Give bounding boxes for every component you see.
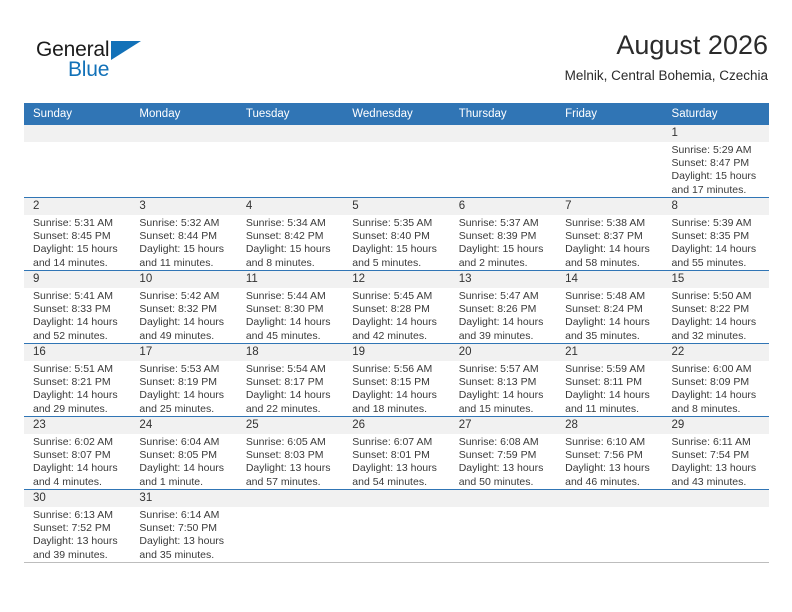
sunset-text: Sunset: 8:19 PM [139,376,230,389]
calendar-cell[interactable]: 23Sunrise: 6:02 AMSunset: 8:07 PMDayligh… [24,417,130,490]
day-number: 19 [343,344,449,361]
location-subtitle: Melnik, Central Bohemia, Czechia [565,66,768,86]
calendar-cell[interactable] [663,490,769,563]
sunset-text: Sunset: 8:42 PM [246,230,337,243]
calendar-cell[interactable]: 25Sunrise: 6:05 AMSunset: 8:03 PMDayligh… [237,417,343,490]
title-block: August 2026 Melnik, Central Bohemia, Cze… [565,28,768,86]
daylight-text-line2: and 18 minutes. [352,403,443,416]
day-details: Sunrise: 6:14 AMSunset: 7:50 PMDaylight:… [130,507,236,562]
daylight-text-line1: Daylight: 14 hours [33,389,124,402]
daylight-text-line2: and 49 minutes. [139,330,230,343]
sunrise-text: Sunrise: 5:31 AM [33,217,124,230]
sunset-text: Sunset: 8:03 PM [246,449,337,462]
day-details: Sunrise: 5:34 AMSunset: 8:42 PMDaylight:… [237,215,343,270]
day-number [556,125,662,142]
day-details: Sunrise: 5:51 AMSunset: 8:21 PMDaylight:… [24,361,130,416]
weekday-header-saturday: Saturday [663,103,769,125]
day-number: 28 [556,417,662,434]
sunrise-text: Sunrise: 6:02 AM [33,436,124,449]
day-number: 23 [24,417,130,434]
sunset-text: Sunset: 7:54 PM [672,449,763,462]
day-number: 1 [663,125,769,142]
daylight-text-line1: Daylight: 14 hours [139,389,230,402]
calendar-cell[interactable] [343,490,449,563]
sunrise-text: Sunrise: 6:13 AM [33,509,124,522]
calendar-cell[interactable]: 8Sunrise: 5:39 AMSunset: 8:35 PMDaylight… [663,198,769,271]
sunrise-text: Sunrise: 5:53 AM [139,363,230,376]
day-details: Sunrise: 5:37 AMSunset: 8:39 PMDaylight:… [450,215,556,270]
daylight-text-line2: and 29 minutes. [33,403,124,416]
daylight-text-line2: and 39 minutes. [459,330,550,343]
sunrise-sunset-calendar-table: Sunday Monday Tuesday Wednesday Thursday… [24,103,769,563]
daylight-text-line1: Daylight: 15 hours [459,243,550,256]
sunset-text: Sunset: 8:32 PM [139,303,230,316]
day-details [237,142,343,144]
general-blue-logo[interactable]: General Blue [36,38,176,94]
weekday-header-sunday: Sunday [24,103,130,125]
sunrise-text: Sunrise: 5:48 AM [565,290,656,303]
sunset-text: Sunset: 8:47 PM [672,157,763,170]
day-details: Sunrise: 5:59 AMSunset: 8:11 PMDaylight:… [556,361,662,416]
weekday-header-friday: Friday [556,103,662,125]
sunrise-text: Sunrise: 5:50 AM [672,290,763,303]
sunrise-text: Sunrise: 6:14 AM [139,509,230,522]
day-number [450,125,556,142]
sunset-text: Sunset: 8:13 PM [459,376,550,389]
daylight-text-line2: and 39 minutes. [33,549,124,562]
calendar-cell[interactable]: 12Sunrise: 5:45 AMSunset: 8:28 PMDayligh… [343,271,449,344]
sunset-text: Sunset: 8:01 PM [352,449,443,462]
sunrise-text: Sunrise: 5:45 AM [352,290,443,303]
calendar-cell[interactable]: 3Sunrise: 5:32 AMSunset: 8:44 PMDaylight… [130,198,236,271]
daylight-text-line1: Daylight: 14 hours [246,389,337,402]
daylight-text-line2: and 5 minutes. [352,257,443,270]
calendar-cell[interactable] [343,125,449,198]
day-number: 21 [556,344,662,361]
daylight-text-line2: and 57 minutes. [246,476,337,489]
day-details: Sunrise: 6:08 AMSunset: 7:59 PMDaylight:… [450,434,556,489]
day-number [663,490,769,507]
day-details: Sunrise: 5:45 AMSunset: 8:28 PMDaylight:… [343,288,449,343]
calendar-cell[interactable] [556,125,662,198]
sunrise-text: Sunrise: 6:00 AM [672,363,763,376]
day-number: 16 [24,344,130,361]
day-details: Sunrise: 5:50 AMSunset: 8:22 PMDaylight:… [663,288,769,343]
daylight-text-line2: and 11 minutes. [139,257,230,270]
sunrise-text: Sunrise: 5:35 AM [352,217,443,230]
day-details: Sunrise: 6:00 AMSunset: 8:09 PMDaylight:… [663,361,769,416]
sunset-text: Sunset: 7:50 PM [139,522,230,535]
day-details: Sunrise: 5:44 AMSunset: 8:30 PMDaylight:… [237,288,343,343]
logo-text-blue: Blue [68,58,109,82]
sunset-text: Sunset: 8:28 PM [352,303,443,316]
sunrise-text: Sunrise: 6:07 AM [352,436,443,449]
day-number: 14 [556,271,662,288]
daylight-text-line2: and 52 minutes. [33,330,124,343]
day-number: 6 [450,198,556,215]
daylight-text-line2: and 54 minutes. [352,476,443,489]
day-number: 10 [130,271,236,288]
sunset-text: Sunset: 8:37 PM [565,230,656,243]
sunrise-text: Sunrise: 6:11 AM [672,436,763,449]
sunset-text: Sunset: 8:11 PM [565,376,656,389]
calendar-cell[interactable]: 10Sunrise: 5:42 AMSunset: 8:32 PMDayligh… [130,271,236,344]
weekday-header-wednesday: Wednesday [343,103,449,125]
calendar-page: General Blue August 2026 Melnik, Central… [0,0,792,612]
sunrise-text: Sunrise: 5:38 AM [565,217,656,230]
daylight-text-line2: and 15 minutes. [459,403,550,416]
sunrise-text: Sunrise: 6:08 AM [459,436,550,449]
calendar-cell[interactable] [130,125,236,198]
daylight-text-line2: and 32 minutes. [672,330,763,343]
day-details [24,142,130,144]
sunrise-text: Sunrise: 5:56 AM [352,363,443,376]
calendar-cell[interactable]: 20Sunrise: 5:57 AMSunset: 8:13 PMDayligh… [450,344,556,417]
sunset-text: Sunset: 8:33 PM [33,303,124,316]
sunset-text: Sunset: 8:40 PM [352,230,443,243]
day-details: Sunrise: 5:57 AMSunset: 8:13 PMDaylight:… [450,361,556,416]
calendar-cell[interactable]: 27Sunrise: 6:08 AMSunset: 7:59 PMDayligh… [450,417,556,490]
day-number: 13 [450,271,556,288]
day-number [343,490,449,507]
calendar-cell[interactable] [237,125,343,198]
daylight-text-line2: and 4 minutes. [33,476,124,489]
calendar-cell[interactable] [24,125,130,198]
calendar-cell[interactable]: 4Sunrise: 5:34 AMSunset: 8:42 PMDaylight… [237,198,343,271]
day-number: 30 [24,490,130,507]
day-number: 18 [237,344,343,361]
daylight-text-line2: and 8 minutes. [672,403,763,416]
weekday-header-row: Sunday Monday Tuesday Wednesday Thursday… [24,103,769,125]
sunset-text: Sunset: 7:59 PM [459,449,550,462]
sunset-text: Sunset: 8:30 PM [246,303,337,316]
daylight-text-line2: and 11 minutes. [565,403,656,416]
day-details: Sunrise: 5:35 AMSunset: 8:40 PMDaylight:… [343,215,449,270]
daylight-text-line1: Daylight: 15 hours [672,170,763,183]
day-details: Sunrise: 5:29 AMSunset: 8:47 PMDaylight:… [663,142,769,197]
day-number: 12 [343,271,449,288]
daylight-text-line2: and 2 minutes. [459,257,550,270]
sunrise-text: Sunrise: 5:57 AM [459,363,550,376]
calendar-cell[interactable]: 28Sunrise: 6:10 AMSunset: 7:56 PMDayligh… [556,417,662,490]
day-number: 27 [450,417,556,434]
daylight-text-line2: and 25 minutes. [139,403,230,416]
calendar-cell[interactable]: 18Sunrise: 5:54 AMSunset: 8:17 PMDayligh… [237,344,343,417]
sunset-text: Sunset: 7:52 PM [33,522,124,535]
day-details: Sunrise: 6:13 AMSunset: 7:52 PMDaylight:… [24,507,130,562]
calendar-cell[interactable] [237,490,343,563]
daylight-text-line1: Daylight: 13 hours [246,462,337,475]
sunrise-text: Sunrise: 5:29 AM [672,144,763,157]
daylight-text-line1: Daylight: 14 hours [672,243,763,256]
calendar-cell[interactable]: 31Sunrise: 6:14 AMSunset: 7:50 PMDayligh… [130,490,236,563]
day-details: Sunrise: 6:04 AMSunset: 8:05 PMDaylight:… [130,434,236,489]
daylight-text-line1: Daylight: 15 hours [139,243,230,256]
calendar-cell[interactable]: 7Sunrise: 5:38 AMSunset: 8:37 PMDaylight… [556,198,662,271]
calendar-week-row: 23Sunrise: 6:02 AMSunset: 8:07 PMDayligh… [24,417,769,490]
sunset-text: Sunset: 8:15 PM [352,376,443,389]
day-details: Sunrise: 6:02 AMSunset: 8:07 PMDaylight:… [24,434,130,489]
sunset-text: Sunset: 8:05 PM [139,449,230,462]
daylight-text-line2: and 50 minutes. [459,476,550,489]
day-number [130,125,236,142]
daylight-text-line1: Daylight: 14 hours [246,316,337,329]
page-header: General Blue August 2026 Melnik, Central… [24,28,768,100]
day-details [556,142,662,144]
calendar-cell[interactable]: 5Sunrise: 5:35 AMSunset: 8:40 PMDaylight… [343,198,449,271]
sunset-text: Sunset: 8:07 PM [33,449,124,462]
day-details: Sunrise: 5:38 AMSunset: 8:37 PMDaylight:… [556,215,662,270]
calendar-cell[interactable]: 14Sunrise: 5:48 AMSunset: 8:24 PMDayligh… [556,271,662,344]
day-number: 29 [663,417,769,434]
day-number: 2 [24,198,130,215]
sunset-text: Sunset: 8:21 PM [33,376,124,389]
calendar-cell[interactable]: 2Sunrise: 5:31 AMSunset: 8:45 PMDaylight… [24,198,130,271]
daylight-text-line2: and 14 minutes. [33,257,124,270]
calendar-cell[interactable]: 26Sunrise: 6:07 AMSunset: 8:01 PMDayligh… [343,417,449,490]
daylight-text-line1: Daylight: 13 hours [139,535,230,548]
sunrise-text: Sunrise: 5:44 AM [246,290,337,303]
calendar-cell[interactable]: 17Sunrise: 5:53 AMSunset: 8:19 PMDayligh… [130,344,236,417]
day-number [450,490,556,507]
daylight-text-line2: and 17 minutes. [672,184,763,197]
daylight-text-line2: and 46 minutes. [565,476,656,489]
day-details [343,142,449,144]
day-details [343,507,449,509]
day-details: Sunrise: 5:42 AMSunset: 8:32 PMDaylight:… [130,288,236,343]
daylight-text-line1: Daylight: 13 hours [33,535,124,548]
daylight-text-line1: Daylight: 13 hours [565,462,656,475]
weekday-header-thursday: Thursday [450,103,556,125]
day-number [24,125,130,142]
calendar-cell[interactable]: 22Sunrise: 6:00 AMSunset: 8:09 PMDayligh… [663,344,769,417]
calendar-cell[interactable] [556,490,662,563]
calendar-cell[interactable]: 13Sunrise: 5:47 AMSunset: 8:26 PMDayligh… [450,271,556,344]
daylight-text-line1: Daylight: 14 hours [672,316,763,329]
day-number [556,490,662,507]
sunrise-text: Sunrise: 6:10 AM [565,436,656,449]
day-details [663,507,769,509]
day-number: 17 [130,344,236,361]
daylight-text-line1: Daylight: 14 hours [33,462,124,475]
calendar-cell[interactable]: 11Sunrise: 5:44 AMSunset: 8:30 PMDayligh… [237,271,343,344]
day-details: Sunrise: 5:56 AMSunset: 8:15 PMDaylight:… [343,361,449,416]
weekday-header-monday: Monday [130,103,236,125]
sunset-text: Sunset: 8:44 PM [139,230,230,243]
day-details: Sunrise: 6:11 AMSunset: 7:54 PMDaylight:… [663,434,769,489]
calendar-cell[interactable]: 15Sunrise: 5:50 AMSunset: 8:22 PMDayligh… [663,271,769,344]
day-number [343,125,449,142]
daylight-text-line1: Daylight: 14 hours [352,316,443,329]
calendar-cell[interactable] [450,490,556,563]
sunset-text: Sunset: 8:22 PM [672,303,763,316]
blue-triangle-icon [111,41,141,60]
sunrise-text: Sunrise: 5:54 AM [246,363,337,376]
daylight-text-line2: and 55 minutes. [672,257,763,270]
day-number: 9 [24,271,130,288]
daylight-text-line1: Daylight: 15 hours [352,243,443,256]
daylight-text-line1: Daylight: 14 hours [459,389,550,402]
calendar-cell[interactable]: 1Sunrise: 5:29 AMSunset: 8:47 PMDaylight… [663,125,769,198]
day-number: 3 [130,198,236,215]
sunrise-text: Sunrise: 6:04 AM [139,436,230,449]
daylight-text-line1: Daylight: 14 hours [33,316,124,329]
day-number: 20 [450,344,556,361]
day-details [237,507,343,509]
day-details: Sunrise: 5:53 AMSunset: 8:19 PMDaylight:… [130,361,236,416]
daylight-text-line1: Daylight: 14 hours [352,389,443,402]
sunset-text: Sunset: 8:24 PM [565,303,656,316]
day-number: 24 [130,417,236,434]
calendar-cell[interactable]: 21Sunrise: 5:59 AMSunset: 8:11 PMDayligh… [556,344,662,417]
day-details: Sunrise: 5:54 AMSunset: 8:17 PMDaylight:… [237,361,343,416]
daylight-text-line1: Daylight: 14 hours [565,389,656,402]
sunrise-text: Sunrise: 5:32 AM [139,217,230,230]
day-details: Sunrise: 6:10 AMSunset: 7:56 PMDaylight:… [556,434,662,489]
calendar-week-row: 30Sunrise: 6:13 AMSunset: 7:52 PMDayligh… [24,490,769,563]
daylight-text-line2: and 58 minutes. [565,257,656,270]
daylight-text-line1: Daylight: 13 hours [352,462,443,475]
day-details: Sunrise: 5:31 AMSunset: 8:45 PMDaylight:… [24,215,130,270]
day-details: Sunrise: 6:05 AMSunset: 8:03 PMDaylight:… [237,434,343,489]
day-number: 11 [237,271,343,288]
day-number: 8 [663,198,769,215]
daylight-text-line2: and 42 minutes. [352,330,443,343]
daylight-text-line2: and 22 minutes. [246,403,337,416]
daylight-text-line1: Daylight: 14 hours [672,389,763,402]
sunrise-text: Sunrise: 5:34 AM [246,217,337,230]
daylight-text-line2: and 1 minute. [139,476,230,489]
daylight-text-line2: and 43 minutes. [672,476,763,489]
day-details: Sunrise: 5:48 AMSunset: 8:24 PMDaylight:… [556,288,662,343]
day-details [556,507,662,509]
daylight-text-line1: Daylight: 15 hours [246,243,337,256]
daylight-text-line1: Daylight: 14 hours [565,316,656,329]
day-number: 31 [130,490,236,507]
sunset-text: Sunset: 8:17 PM [246,376,337,389]
calendar-week-row: 16Sunrise: 5:51 AMSunset: 8:21 PMDayligh… [24,344,769,417]
calendar-week-row: 9Sunrise: 5:41 AMSunset: 8:33 PMDaylight… [24,271,769,344]
calendar-cell[interactable]: 6Sunrise: 5:37 AMSunset: 8:39 PMDaylight… [450,198,556,271]
weekday-header-tuesday: Tuesday [237,103,343,125]
sunset-text: Sunset: 8:09 PM [672,376,763,389]
day-details: Sunrise: 5:47 AMSunset: 8:26 PMDaylight:… [450,288,556,343]
calendar-cell[interactable]: 9Sunrise: 5:41 AMSunset: 8:33 PMDaylight… [24,271,130,344]
daylight-text-line1: Daylight: 15 hours [33,243,124,256]
daylight-text-line2: and 35 minutes. [139,549,230,562]
sunset-text: Sunset: 8:45 PM [33,230,124,243]
sunrise-text: Sunrise: 5:41 AM [33,290,124,303]
calendar-cell[interactable]: 24Sunrise: 6:04 AMSunset: 8:05 PMDayligh… [130,417,236,490]
day-number: 4 [237,198,343,215]
day-number: 25 [237,417,343,434]
sunset-text: Sunset: 8:35 PM [672,230,763,243]
day-details: Sunrise: 5:39 AMSunset: 8:35 PMDaylight:… [663,215,769,270]
day-number: 5 [343,198,449,215]
calendar-week-row: 2Sunrise: 5:31 AMSunset: 8:45 PMDaylight… [24,198,769,271]
daylight-text-line2: and 45 minutes. [246,330,337,343]
day-details: Sunrise: 6:07 AMSunset: 8:01 PMDaylight:… [343,434,449,489]
daylight-text-line1: Daylight: 13 hours [459,462,550,475]
day-details [130,142,236,144]
day-details [450,507,556,509]
day-number: 26 [343,417,449,434]
daylight-text-line1: Daylight: 14 hours [459,316,550,329]
sunrise-text: Sunrise: 5:51 AM [33,363,124,376]
day-number: 22 [663,344,769,361]
sunrise-text: Sunrise: 5:37 AM [459,217,550,230]
day-number [237,125,343,142]
page-title: August 2026 [565,28,768,62]
day-details: Sunrise: 5:41 AMSunset: 8:33 PMDaylight:… [24,288,130,343]
calendar-cell[interactable]: 19Sunrise: 5:56 AMSunset: 8:15 PMDayligh… [343,344,449,417]
daylight-text-line1: Daylight: 14 hours [139,462,230,475]
calendar-cell[interactable] [450,125,556,198]
daylight-text-line2: and 8 minutes. [246,257,337,270]
day-details [450,142,556,144]
calendar-week-row: 1Sunrise: 5:29 AMSunset: 8:47 PMDaylight… [24,125,769,198]
day-number: 15 [663,271,769,288]
calendar-cell[interactable]: 29Sunrise: 6:11 AMSunset: 7:54 PMDayligh… [663,417,769,490]
daylight-text-line1: Daylight: 14 hours [565,243,656,256]
sunrise-text: Sunrise: 6:05 AM [246,436,337,449]
sunrise-text: Sunrise: 5:39 AM [672,217,763,230]
day-number: 7 [556,198,662,215]
calendar-cell[interactable]: 16Sunrise: 5:51 AMSunset: 8:21 PMDayligh… [24,344,130,417]
day-details: Sunrise: 5:32 AMSunset: 8:44 PMDaylight:… [130,215,236,270]
sunrise-text: Sunrise: 5:59 AM [565,363,656,376]
sunrise-text: Sunrise: 5:42 AM [139,290,230,303]
daylight-text-line1: Daylight: 14 hours [139,316,230,329]
sunset-text: Sunset: 7:56 PM [565,449,656,462]
calendar-cell[interactable]: 30Sunrise: 6:13 AMSunset: 7:52 PMDayligh… [24,490,130,563]
day-number [237,490,343,507]
sunrise-text: Sunrise: 5:47 AM [459,290,550,303]
sunset-text: Sunset: 8:26 PM [459,303,550,316]
daylight-text-line1: Daylight: 13 hours [672,462,763,475]
sunset-text: Sunset: 8:39 PM [459,230,550,243]
daylight-text-line2: and 35 minutes. [565,330,656,343]
